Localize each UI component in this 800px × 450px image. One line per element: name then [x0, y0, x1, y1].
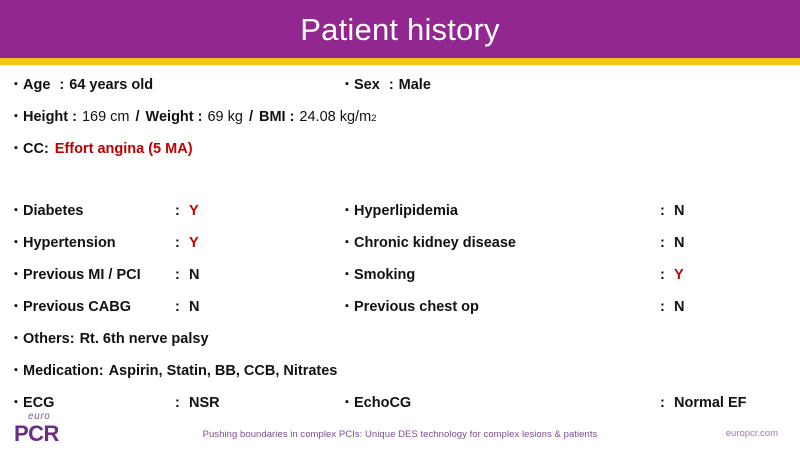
- medication-value: Aspirin, Statin, BB, CCB, Nitrates: [104, 363, 338, 379]
- bullet-icon: [14, 333, 23, 344]
- previous-cabg-separator: :: [175, 299, 180, 315]
- bullet-icon: [14, 365, 23, 376]
- hypertension-separator: :: [175, 235, 180, 251]
- bullet-icon: [345, 269, 354, 280]
- hyperlipidemia-separator: :: [660, 203, 665, 219]
- height-separator: :: [68, 109, 77, 125]
- bullet-icon: [345, 205, 354, 216]
- height-label: Height: [23, 109, 68, 125]
- previous-mi-pci-separator: :: [175, 267, 180, 283]
- row-medication: Medication: Aspirin, Statin, BB, CCB, Ni…: [14, 363, 786, 379]
- ecg-label: ECG: [23, 395, 54, 411]
- row-chief-complaint: CC: Effort angina (5 MA): [14, 141, 786, 157]
- footer-url[interactable]: europcr.com: [726, 428, 778, 439]
- echocg-value: Normal EF: [674, 395, 747, 411]
- bullet-icon: [14, 301, 23, 312]
- row-anthropometrics: Height : 169 cm / Weight : 69 kg / BMI :…: [14, 109, 786, 125]
- weight-separator: :: [194, 109, 203, 125]
- bullet-icon: [345, 397, 354, 408]
- echocg-label: EchoCG: [354, 395, 411, 411]
- bmi-separator: :: [286, 109, 295, 125]
- page-title: Patient history: [300, 14, 499, 45]
- row-previous-mi-pci: Previous MI / PCI : N: [14, 267, 334, 283]
- row-chronic-kidney-disease: Chronic kidney disease : N: [345, 235, 785, 251]
- previous-chest-op-label: Previous chest op: [354, 299, 479, 315]
- sex-value: Male: [394, 77, 431, 93]
- previous-mi-pci-label: Previous MI / PCI: [23, 267, 141, 283]
- bullet-icon: [14, 111, 23, 122]
- diabetes-label: Diabetes: [23, 203, 83, 219]
- bullet-icon: [345, 237, 354, 248]
- previous-cabg-label: Previous CABG: [23, 299, 131, 315]
- footer: euro PCR Pushing boundaries in complex P…: [0, 410, 800, 450]
- ecg-value: NSR: [189, 395, 220, 411]
- medication-label: Medication:: [23, 363, 104, 379]
- bmi-value: 24.08 kg/m: [294, 109, 371, 125]
- row-sex: Sex : Male: [345, 77, 785, 93]
- smoking-value: Y: [674, 267, 684, 283]
- row-hypertension: Hypertension : Y: [14, 235, 334, 251]
- previous-chest-op-value: N: [674, 299, 684, 315]
- sex-separator: :: [380, 77, 394, 93]
- smoking-separator: :: [660, 267, 665, 283]
- bullet-icon: [14, 269, 23, 280]
- bullet-icon: [14, 79, 23, 90]
- diabetes-value: Y: [189, 203, 199, 219]
- diabetes-separator: :: [175, 203, 180, 219]
- age-label: Age: [23, 77, 50, 93]
- bmi-label: BMI: [253, 109, 286, 125]
- hypertension-label: Hypertension: [23, 235, 116, 251]
- cc-label: CC:: [23, 141, 49, 157]
- bullet-icon: [14, 397, 23, 408]
- previous-mi-pci-value: N: [189, 267, 199, 283]
- header-band: Patient history: [0, 0, 800, 58]
- bullet-icon: [345, 79, 354, 90]
- hyperlipidemia-label: Hyperlipidemia: [354, 203, 458, 219]
- smoking-label: Smoking: [354, 267, 415, 283]
- row-hyperlipidemia: Hyperlipidemia : N: [345, 203, 785, 219]
- sex-label: Sex: [354, 77, 380, 93]
- chronic-kidney-disease-label: Chronic kidney disease: [354, 235, 516, 251]
- age-separator: :: [50, 77, 64, 93]
- height-value: 169 cm: [77, 109, 130, 125]
- chronic-kidney-disease-value: N: [674, 235, 684, 251]
- cc-value: Effort angina (5 MA): [49, 141, 193, 157]
- others-label: Others:: [23, 331, 75, 347]
- bullet-icon: [14, 143, 23, 154]
- row-smoking: Smoking : Y: [345, 267, 785, 283]
- previous-cabg-value: N: [189, 299, 199, 315]
- bullet-icon: [14, 205, 23, 216]
- row-previous-cabg: Previous CABG : N: [14, 299, 334, 315]
- row-diabetes: Diabetes : Y: [14, 203, 334, 219]
- accent-bar: [0, 58, 800, 65]
- slide-root: Patient history Age : 64 years old Sex :…: [0, 0, 800, 450]
- echocg-separator: :: [660, 395, 665, 411]
- weight-value: 69 kg: [202, 109, 242, 125]
- row-others: Others: Rt. 6th nerve palsy: [14, 331, 786, 347]
- bullet-icon: [14, 237, 23, 248]
- field-separator: /: [243, 109, 253, 125]
- content-area: Age : 64 years old Sex : Male Height : 1…: [0, 65, 800, 410]
- row-ecg: ECG : NSR: [14, 395, 334, 411]
- chronic-kidney-disease-separator: :: [660, 235, 665, 251]
- footer-tagline: Pushing boundaries in complex PCIs: Uniq…: [0, 429, 800, 440]
- age-value: 64 years old: [64, 77, 153, 93]
- ecg-separator: :: [175, 395, 180, 411]
- hyperlipidemia-value: N: [674, 203, 684, 219]
- field-separator: /: [130, 109, 140, 125]
- previous-chest-op-separator: :: [660, 299, 665, 315]
- weight-label: Weight: [140, 109, 194, 125]
- row-echocg: EchoCG : Normal EF: [345, 395, 785, 411]
- hypertension-value: Y: [189, 235, 199, 251]
- row-previous-chest-op: Previous chest op : N: [345, 299, 785, 315]
- bullet-icon: [345, 301, 354, 312]
- others-value: Rt. 6th nerve palsy: [75, 331, 209, 347]
